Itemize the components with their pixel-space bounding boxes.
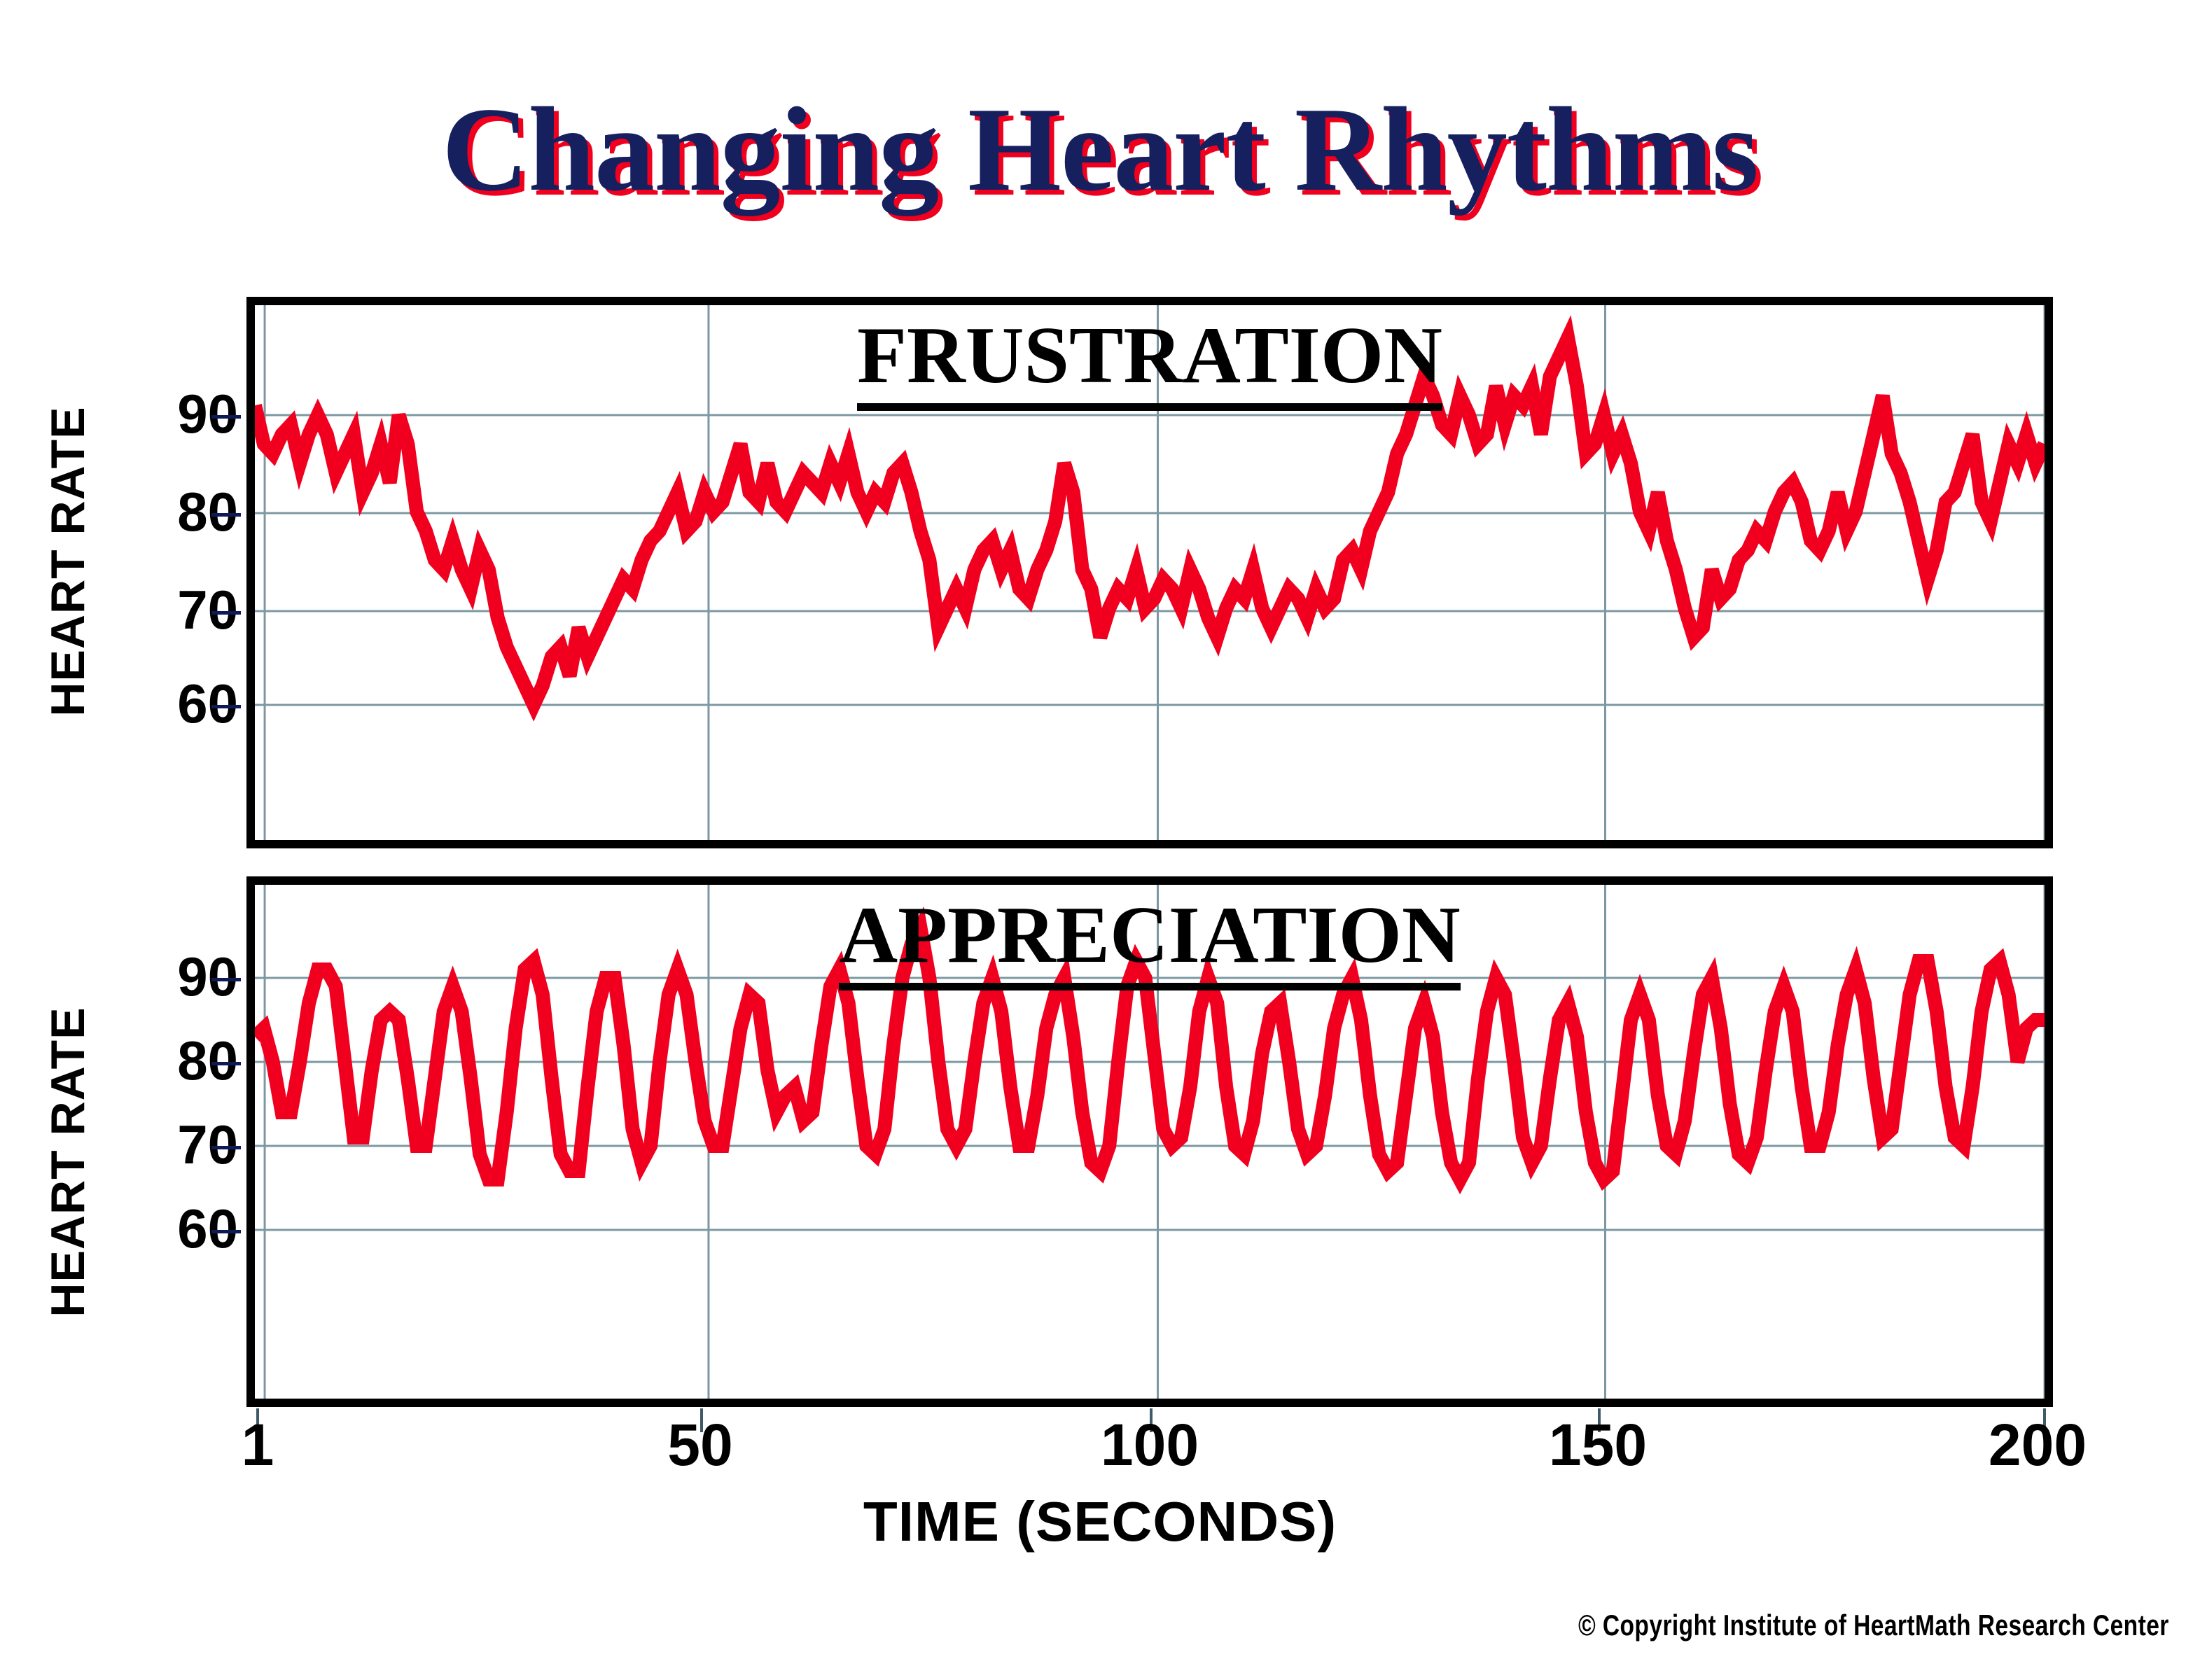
y-tick-label-bottom-70: 70: [105, 1117, 238, 1172]
x-tick-label-50: 50: [616, 1415, 784, 1474]
x-tick-label-100: 100: [1066, 1415, 1234, 1474]
y-tick-mark-bottom-70: [211, 1146, 241, 1149]
chart-panel-appreciation[interactable]: APPRECIATION: [246, 876, 2053, 1407]
page-title: Changing Heart Rhythms: [0, 90, 2200, 210]
y-tick-mark-top-80: [211, 513, 241, 517]
panel-label-appreciation: APPRECIATION: [255, 895, 2045, 990]
y-tick-label-bottom-60: 60: [105, 1201, 238, 1256]
panel-label-appreciation-text: APPRECIATION: [839, 895, 1460, 990]
y-axis-title-bottom: HEART RATE: [41, 924, 95, 1400]
y-tick-mark-bottom-60: [211, 1230, 241, 1233]
y-tick-label-top-80: 80: [105, 484, 238, 539]
panel-label-frustration: FRUSTRATION: [255, 315, 2045, 411]
panel-label-frustration-text: FRUSTRATION: [857, 315, 1442, 411]
x-tick-label-1: 1: [174, 1415, 342, 1474]
y-tick-mark-bottom-80: [211, 1062, 241, 1065]
y-tick-mark-top-90: [211, 415, 241, 419]
y-tick-label-bottom-80: 80: [105, 1033, 238, 1088]
x-axis-title: TIME (SECONDS): [0, 1490, 2200, 1554]
y-tick-label-top-70: 70: [105, 582, 238, 637]
x-tick-label-200: 200: [1954, 1415, 2122, 1474]
y-tick-mark-top-70: [211, 611, 241, 615]
copyright-notice: © Copyright Institute of HeartMath Resea…: [1578, 1609, 2169, 1642]
y-axis-title-top: HEART RATE: [41, 323, 95, 799]
x-tick-label-150: 150: [1514, 1415, 1682, 1474]
chart-panel-frustration[interactable]: FRUSTRATION: [246, 297, 2053, 848]
y-tick-mark-bottom-90: [211, 978, 241, 981]
y-tick-mark-top-60: [211, 705, 241, 708]
y-tick-label-top-60: 60: [105, 676, 238, 731]
y-tick-label-bottom-90: 90: [105, 949, 238, 1004]
y-tick-label-top-90: 90: [105, 386, 238, 441]
